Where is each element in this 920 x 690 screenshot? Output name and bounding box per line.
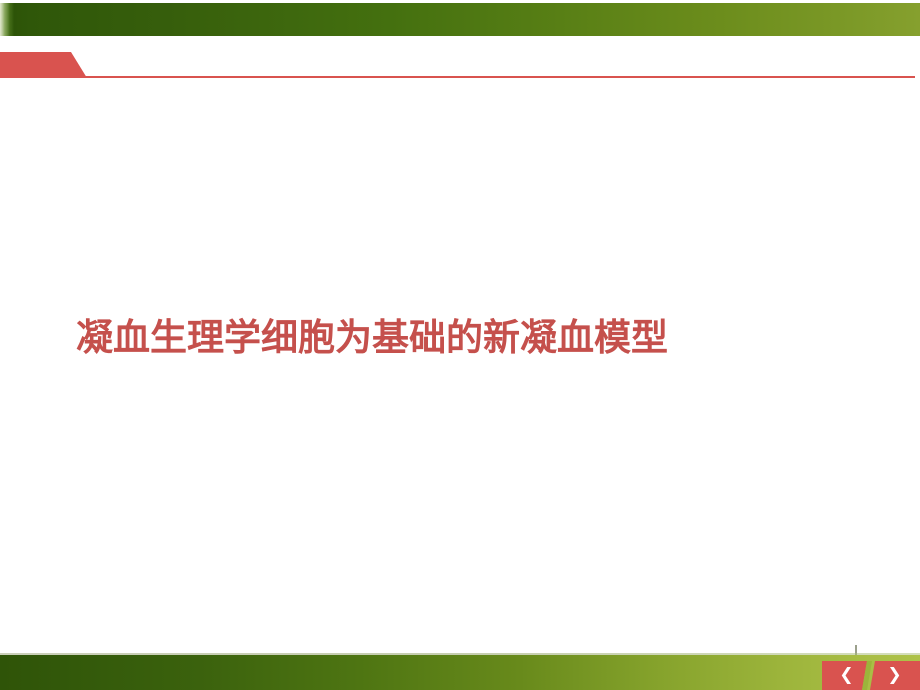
slide-title: 凝血生理学细胞为基础的新凝血模型 xyxy=(76,316,836,360)
top-band-left-highlight xyxy=(0,3,14,36)
top-green-band xyxy=(0,3,920,36)
red-accent-tab xyxy=(0,52,87,78)
presentation-slide: 凝血生理学细胞为基础的新凝血模型 ❮ ❯ xyxy=(0,0,920,690)
slide-navigation: ❮ ❯ xyxy=(822,661,920,690)
chevron-left-icon: ❮ xyxy=(839,665,853,685)
bottom-green-band xyxy=(0,655,920,690)
red-horizontal-rule xyxy=(83,76,915,78)
next-slide-button[interactable]: ❯ xyxy=(869,661,920,690)
chevron-right-icon: ❯ xyxy=(887,665,901,685)
